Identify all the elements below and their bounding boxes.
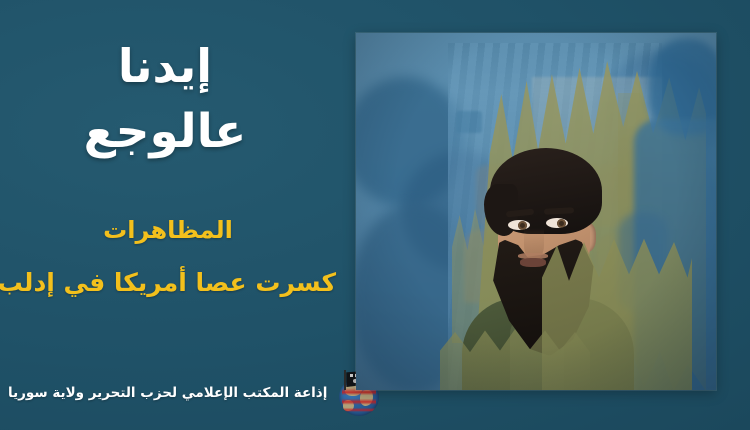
poster-canvas: إيدنا عالوجع المظاهرات كسرت عصا أمريكا ف… — [0, 0, 750, 430]
flag-pole-icon — [344, 370, 346, 390]
footer-credit-text: إذاعة المكتب الإعلامي لحزب التحرير ولاية… — [8, 385, 327, 401]
footer-bar: إذاعة المكتب الإعلامي لحزب التحرير ولاية… — [0, 370, 328, 416]
subheadline-line-2: كسرت عصا أمريكا في إدلب — [0, 264, 336, 302]
mouth — [520, 258, 546, 267]
subheadline-line-1: المظاهرات — [0, 212, 336, 248]
pupil — [557, 219, 566, 228]
subheadline-block: المظاهرات كسرت عصا أمريكا في إدلب — [0, 212, 336, 302]
headline-block: إيدنا عالوجع — [0, 36, 330, 163]
eye — [546, 218, 568, 228]
composite-photo-panel — [356, 33, 716, 390]
headline-line-1: إيدنا — [0, 36, 330, 97]
headline-line-2: عالوجع — [0, 101, 330, 163]
logo-arabic-red-text — [342, 388, 376, 412]
